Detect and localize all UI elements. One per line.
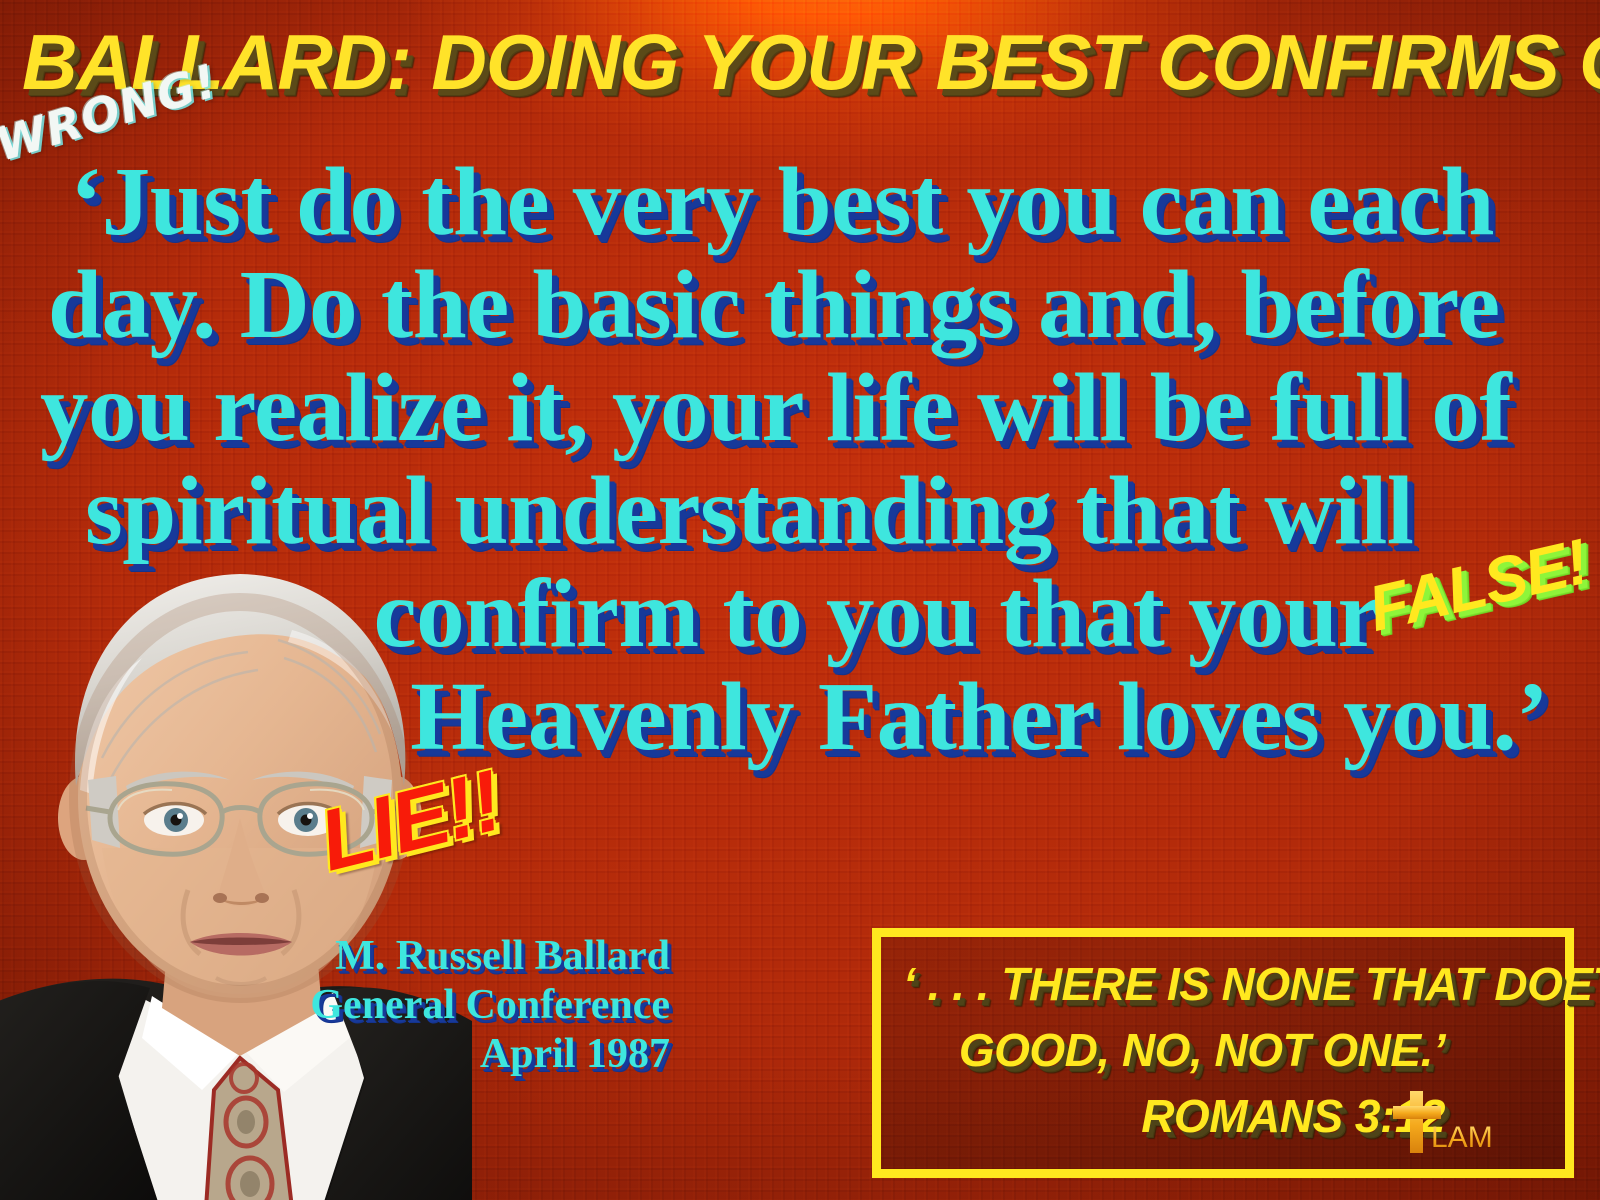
quote-line-5: confirm to you that your	[40, 562, 1560, 665]
poster-canvas: BALLARD: DOING YOUR BEST CONFIRMS GOD'S …	[0, 0, 1600, 1200]
quote-line-1: ‘Just do the very best you can each	[40, 150, 1560, 253]
attribution-event: General Conference	[170, 981, 670, 1030]
nostril-right	[255, 893, 269, 903]
quote-line-4: spiritual understanding that will	[40, 459, 1560, 562]
scripture-line-1: ‘ . . . THERE IS NONE THAT DOETH	[897, 951, 1541, 1017]
nostril-left	[213, 893, 227, 903]
page-title: BALLARD: DOING YOUR BEST CONFIRMS GOD'S …	[22, 22, 1559, 102]
lam-logo: LAM	[1389, 1081, 1509, 1157]
attribution-date: April 1987	[170, 1030, 670, 1079]
quote-line-2: day. Do the basic things and, before	[40, 253, 1560, 356]
scripture-line-2: GOOD, NO, NOT ONE.’	[897, 1017, 1541, 1083]
quote-line-6: Heavenly Father loves you.’	[40, 665, 1560, 768]
main-quote: ‘Just do the very best you can each day.…	[40, 150, 1560, 768]
attribution-name: M. Russell Ballard	[170, 932, 670, 981]
lam-logo-text: LAM	[1431, 1123, 1493, 1153]
scripture-box: ‘ . . . THERE IS NONE THAT DOETH GOOD, N…	[872, 928, 1574, 1178]
quote-attribution: M. Russell Ballard General Conference Ap…	[170, 932, 670, 1079]
quote-line-3: you realize it, your life will be full o…	[40, 356, 1560, 459]
